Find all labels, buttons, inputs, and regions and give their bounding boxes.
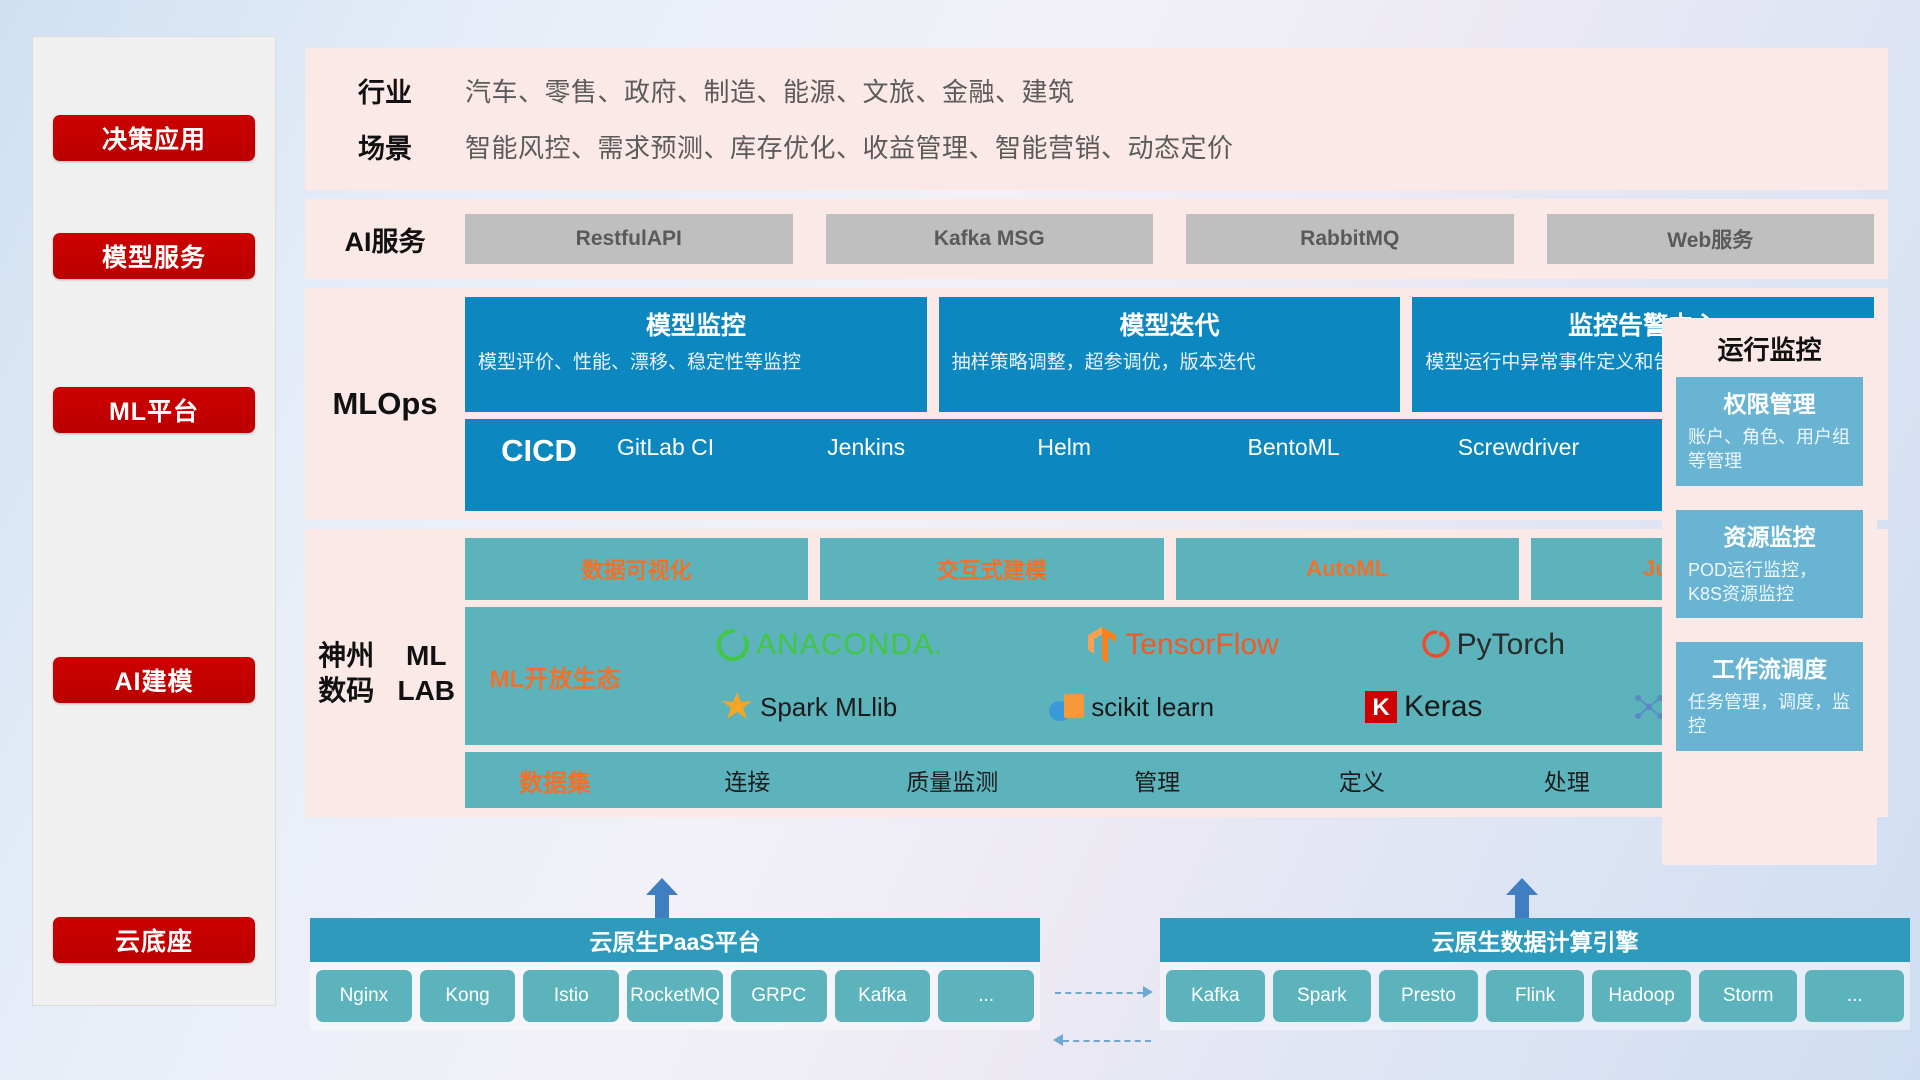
monitor-card-permission[interactable]: 权限管理 账户、角色、用户组等管理 (1676, 377, 1863, 486)
paas-chip-nginx[interactable]: Nginx (316, 970, 412, 1022)
ai-chip-kafka-msg[interactable]: Kafka MSG (826, 214, 1154, 264)
ecosystem-label: ML开放生态 (465, 659, 645, 694)
ai-chip-rabbitmq[interactable]: RabbitMQ (1186, 214, 1514, 264)
arrow-up-paas-icon (645, 878, 679, 920)
logo-anaconda-text: ANACONDA. (756, 628, 943, 662)
logo-pytorch: PyTorch (1421, 628, 1565, 662)
card-desc: 模型评价、性能、漂移、稳定性等监控 (478, 350, 914, 376)
ai-chip-restfulapi[interactable]: RestfulAPI (465, 214, 793, 264)
dataset-item-process[interactable]: 处理 (1464, 763, 1669, 797)
mlops-card-model-monitor[interactable]: 模型监控 模型评价、性能、漂移、稳定性等监控 (465, 297, 927, 412)
cicd-item-helm[interactable]: Helm (1033, 433, 1243, 462)
connector-left-arrow (1053, 1034, 1063, 1046)
rail-item-model-service[interactable]: 模型服务 (53, 233, 255, 279)
paas-chip-more[interactable]: ... (938, 970, 1034, 1022)
cicd-item-bentoml[interactable]: BentoML (1244, 433, 1454, 462)
ai-chip-web-service[interactable]: Web服务 (1547, 214, 1875, 264)
industry-value: 汽车、零售、政府、制造、能源、文旅、金融、建筑 (465, 72, 1075, 109)
monitor-card-resource[interactable]: 资源监控 POD运行监控，K8S资源监控 (1676, 510, 1863, 619)
card-title: 模型迭代 (952, 306, 1388, 342)
industry-scenario-band: 行业 汽车、零售、政府、制造、能源、文旅、金融、建筑 场景 智能风控、需求预测、… (305, 48, 1888, 190)
diagram-canvas: 决策应用 模型服务 ML平台 AI建模 云底座 行业 汽车、零售、政府、制造、能… (0, 0, 1920, 1080)
connector-left (1063, 1040, 1151, 1044)
ai-service-band: AI服务 RestfulAPI Kafka MSG RabbitMQ Web服务 (305, 199, 1888, 279)
scikit-learn-icon (1047, 690, 1085, 724)
card-desc: 账户、角色、用户组等管理 (1688, 425, 1851, 474)
data-engine-title: 云原生数据计算引擎 (1160, 918, 1910, 962)
ml-lab-label-line1: 神州数码 (305, 638, 387, 708)
cloud-base-section: 云原生PaaS平台 Nginx Kong Istio RocketMQ GRPC… (310, 900, 1910, 1030)
connector-right-arrow (1143, 986, 1153, 998)
ai-service-chips: RestfulAPI Kafka MSG RabbitMQ Web服务 (465, 214, 1888, 264)
dataset-item-quality[interactable]: 质量监测 (850, 763, 1055, 797)
ml-lab-label: 神州数码 ML LAB (305, 529, 465, 817)
layer-rail: 决策应用 模型服务 ML平台 AI建模 云底座 (32, 36, 276, 1006)
paas-chip-kafka[interactable]: Kafka (835, 970, 931, 1022)
rail-item-ai-modeling[interactable]: AI建模 (53, 657, 255, 703)
logo-keras: K Keras (1364, 690, 1482, 724)
paas-title: 云原生PaaS平台 (310, 918, 1040, 962)
industry-label: 行业 (305, 71, 465, 110)
paas-chip-istio[interactable]: Istio (523, 970, 619, 1022)
runtime-monitor-panel: 运行监控 权限管理 账户、角色、用户组等管理 资源监控 POD运行监控，K8S资… (1662, 318, 1877, 865)
dataset-label: 数据集 (465, 763, 645, 798)
logo-pytorch-text: PyTorch (1457, 628, 1565, 662)
cicd-item-gitlab-ci[interactable]: GitLab CI (613, 433, 823, 462)
tab-automl[interactable]: AutoML (1176, 538, 1519, 600)
cicd-item-jenkins[interactable]: Jenkins (823, 433, 1033, 462)
engine-chip-storm[interactable]: Storm (1699, 970, 1798, 1022)
runtime-monitor-title: 运行监控 (1662, 318, 1877, 377)
card-desc: 任务管理，调度，监控 (1688, 690, 1851, 739)
ai-service-label: AI服务 (305, 220, 465, 259)
tensorflow-icon (1085, 625, 1119, 665)
paas-chip-rocketmq[interactable]: RocketMQ (627, 970, 723, 1022)
engine-chip-kafka[interactable]: Kafka (1166, 970, 1265, 1022)
engine-chip-flink[interactable]: Flink (1486, 970, 1585, 1022)
scenario-label: 场景 (305, 127, 465, 166)
mlops-band: MLOps 模型监控 模型评价、性能、漂移、稳定性等监控 模型迭代 抽样策略调整… (305, 288, 1888, 520)
spark-star-icon (720, 690, 754, 724)
dataset-item-define[interactable]: 定义 (1259, 763, 1464, 797)
data-engine-chips: Kafka Spark Presto Flink Hadoop Storm ..… (1160, 962, 1910, 1030)
data-engine-pane: 云原生数据计算引擎 Kafka Spark Presto Flink Hadoo… (1160, 918, 1910, 1030)
mlops-label: MLOps (305, 288, 465, 520)
rail-item-ml-platform[interactable]: ML平台 (53, 387, 255, 433)
engine-chip-hadoop[interactable]: Hadoop (1592, 970, 1691, 1022)
engine-chip-presto[interactable]: Presto (1379, 970, 1478, 1022)
paas-chips: Nginx Kong Istio RocketMQ GRPC Kafka ... (310, 962, 1040, 1030)
rail-item-cloud-base[interactable]: 云底座 (53, 917, 255, 963)
tab-interactive-modeling[interactable]: 交互式建模 (820, 538, 1163, 600)
paas-chip-grpc[interactable]: GRPC (731, 970, 827, 1022)
engine-chip-spark[interactable]: Spark (1273, 970, 1372, 1022)
scenario-row: 场景 智能风控、需求预测、库存优化、收益管理、智能营销、动态定价 (305, 118, 1888, 174)
card-title: 资源监控 (1688, 518, 1851, 552)
logo-spark-text: Spark MLlib (760, 692, 897, 723)
keras-icon: K (1364, 690, 1398, 724)
logo-spark-mllib: Spark MLlib (720, 690, 897, 724)
card-title: 模型监控 (478, 306, 914, 342)
arrow-up-engine-icon (1505, 878, 1539, 920)
dataset-item-connect[interactable]: 连接 (645, 763, 850, 797)
main-stack: 行业 汽车、零售、政府、制造、能源、文旅、金融、建筑 场景 智能风控、需求预测、… (305, 48, 1888, 826)
paas-chip-kong[interactable]: Kong (420, 970, 516, 1022)
paas-pane: 云原生PaaS平台 Nginx Kong Istio RocketMQ GRPC… (310, 918, 1040, 1030)
cicd-label: CICD (465, 433, 613, 469)
tab-data-visualization[interactable]: 数据可视化 (465, 538, 808, 600)
logo-tensorflow-text: TensorFlow (1125, 628, 1278, 662)
anaconda-icon (716, 628, 750, 662)
logo-tensorflow: TensorFlow (1085, 625, 1278, 665)
card-title: 权限管理 (1688, 385, 1851, 419)
logo-scikit-text: scikit learn (1091, 692, 1214, 723)
monitor-card-workflow[interactable]: 工作流调度 任务管理，调度，监控 (1676, 642, 1863, 751)
pytorch-icon (1421, 628, 1451, 662)
dataset-item-manage[interactable]: 管理 (1055, 763, 1260, 797)
logo-keras-text: Keras (1404, 690, 1482, 724)
rail-item-decision-app[interactable]: 决策应用 (53, 115, 255, 161)
logo-anaconda: ANACONDA. (716, 628, 943, 662)
svg-text:K: K (1372, 694, 1390, 721)
engine-chip-more[interactable]: ... (1805, 970, 1904, 1022)
industry-row: 行业 汽车、零售、政府、制造、能源、文旅、金融、建筑 (305, 62, 1888, 118)
card-desc: 抽样策略调整，超参调优，版本迭代 (952, 350, 1388, 376)
scenario-value: 智能风控、需求预测、库存优化、收益管理、智能营销、动态定价 (465, 128, 1234, 165)
ml-lab-band: 神州数码 ML LAB 数据可视化 交互式建模 AutoML JupyterLa… (305, 529, 1888, 817)
cicd-item-screwdriver[interactable]: Screwdriver (1454, 433, 1664, 462)
card-title: 工作流调度 (1688, 650, 1851, 684)
connector-right (1055, 992, 1143, 996)
mlops-card-model-iteration[interactable]: 模型迭代 抽样策略调整，超参调优，版本迭代 (939, 297, 1401, 412)
card-desc: POD运行监控，K8S资源监控 (1688, 558, 1851, 607)
ml-lab-label-line2: ML LAB (387, 638, 465, 708)
logo-scikit-learn: scikit learn (1047, 690, 1214, 724)
